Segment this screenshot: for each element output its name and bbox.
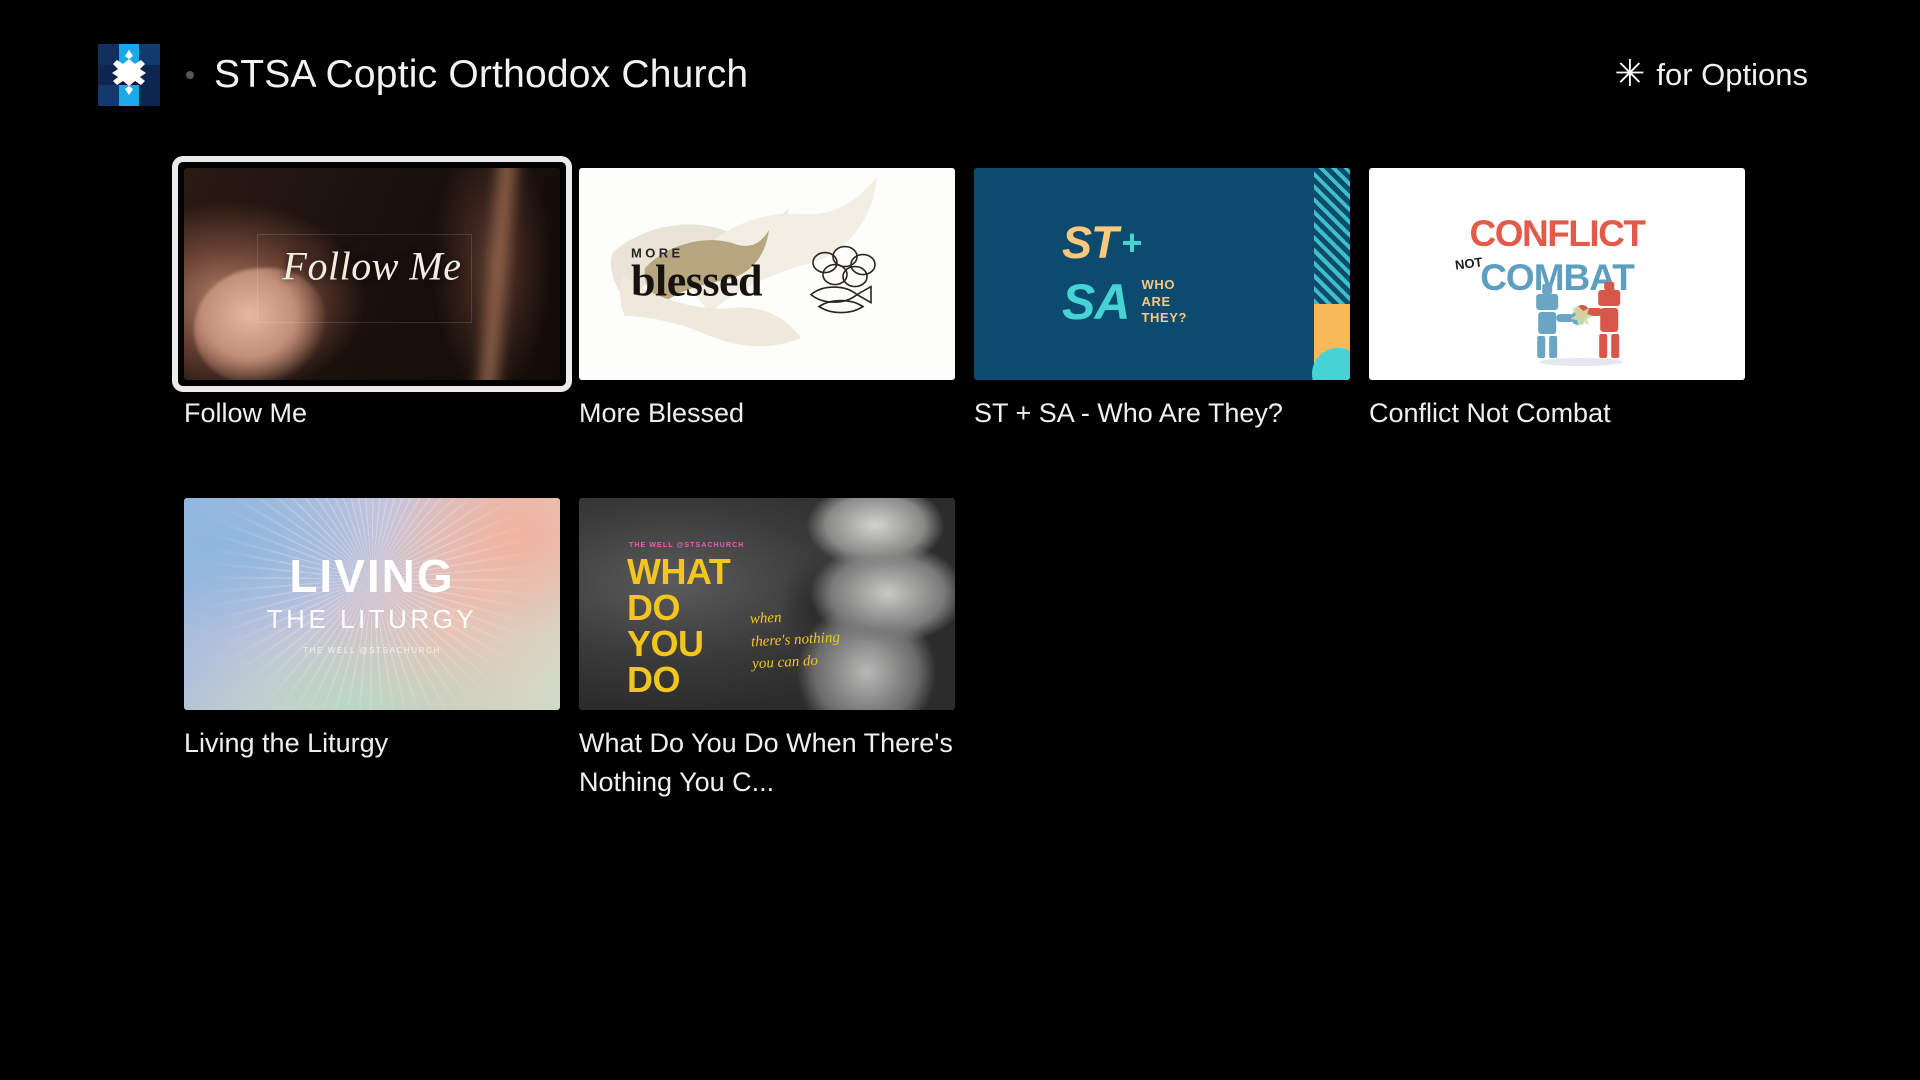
thumbnail-living-the-liturgy[interactable]: LIVING THE LITURGY THE WELL @STSACHURCH — [184, 498, 560, 710]
living-line-3: THE WELL @STSACHURCH — [184, 646, 560, 655]
grid-item-title: Follow Me — [184, 394, 560, 433]
grid-item-title: ST + SA - Who Are They? — [974, 394, 1350, 433]
what-headline: WHAT DO YOU DO — [627, 554, 730, 698]
video-grid: Follow Me Follow Me — [0, 168, 1920, 867]
more-blessed-word: blessed — [631, 261, 762, 303]
app-title: STSA Coptic Orthodox Church — [214, 53, 748, 97]
not-word: NOT — [1454, 254, 1483, 272]
st-sa-tagline: WHO ARE THEY? — [1141, 277, 1187, 326]
st-sa-sa-text: SA — [1062, 273, 1129, 331]
options-hint[interactable]: ✳ for Options — [1614, 0, 1808, 150]
header-bullet-separator — [186, 71, 194, 79]
thumbnail-art-more-blessed: MORE blessed — [579, 168, 955, 380]
person-photo — [778, 498, 955, 710]
thumbnail-st-sa[interactable]: ST + SA WHO ARE THEY? — [974, 168, 1350, 380]
thumbnail-art-st-sa: ST + SA WHO ARE THEY? — [974, 168, 1350, 380]
st-sa-st-text: ST — [1062, 217, 1118, 269]
grid-item-title: Living the Liturgy — [184, 724, 560, 763]
living-line-1: LIVING — [184, 553, 560, 599]
thumbnail-more-blessed[interactable]: MORE blessed — [579, 168, 955, 380]
what-script-text: when there's nothing you can do — [749, 604, 841, 676]
boxing-robots-icon — [1526, 280, 1636, 366]
living-line-2: THE LITURGY — [184, 604, 560, 635]
cross-plus-icon: + — [1122, 229, 1143, 258]
diagonal-stripes-pattern — [1314, 168, 1350, 304]
grid-item-living-the-liturgy[interactable]: LIVING THE LITURGY THE WELL @STSACHURCH … — [184, 498, 579, 802]
more-blessed-wordmark: MORE blessed — [631, 246, 762, 303]
thumbnail-art-living: LIVING THE LITURGY THE WELL @STSACHURCH — [184, 498, 560, 710]
grid-item-more-blessed[interactable]: MORE blessed — [579, 168, 974, 433]
thumbnail-conflict-not-combat[interactable]: CONFLICT COMBAT NOT — [1369, 168, 1745, 380]
thumbnail-overlay-text: Follow Me — [184, 242, 560, 289]
thumbnail-art-conflict: CONFLICT COMBAT NOT — [1369, 168, 1745, 380]
grid-item-follow-me[interactable]: Follow Me Follow Me — [184, 168, 579, 433]
options-hint-label: for Options — [1656, 57, 1808, 93]
st-sa-wordmark: ST + SA WHO ARE THEY? — [1062, 217, 1187, 331]
app-screen: STSA Coptic Orthodox Church ✳ for Option… — [0, 0, 1920, 1080]
living-liturgy-wordmark: LIVING THE LITURGY THE WELL @STSACHURCH — [184, 553, 560, 655]
what-eyebrow: THE WELL @STSACHURCH — [629, 542, 744, 549]
grid-item-conflict-not-combat[interactable]: CONFLICT COMBAT NOT — [1369, 168, 1764, 433]
conflict-word: CONFLICT — [1369, 213, 1745, 255]
grid-item-title: More Blessed — [579, 394, 955, 433]
grid-item-what-do-you-do[interactable]: THE WELL @STSACHURCH WHAT DO YOU DO when… — [579, 498, 974, 802]
grid-item-title: Conflict Not Combat — [1369, 394, 1745, 433]
loaves-and-fishes-icon — [805, 245, 881, 315]
brand-block: STSA Coptic Orthodox Church — [98, 44, 748, 106]
coptic-cross-logo-icon — [98, 44, 160, 106]
thumbnail-art-follow-me: Follow Me — [184, 168, 560, 380]
grid-item-st-sa-who-are-they[interactable]: ST + SA WHO ARE THEY? ST + SA - Who Are … — [974, 168, 1369, 433]
asterisk-icon: ✳ — [1614, 55, 1645, 92]
grid-item-title: What Do You Do When There's Nothing You … — [579, 724, 955, 802]
thumbnail-what-do-you-do[interactable]: THE WELL @STSACHURCH WHAT DO YOU DO when… — [579, 498, 955, 710]
thumbnail-follow-me[interactable]: Follow Me — [184, 168, 560, 380]
app-header: STSA Coptic Orthodox Church ✳ for Option… — [0, 0, 1920, 150]
thumbnail-art-what-do-you-do: THE WELL @STSACHURCH WHAT DO YOU DO when… — [579, 498, 955, 710]
